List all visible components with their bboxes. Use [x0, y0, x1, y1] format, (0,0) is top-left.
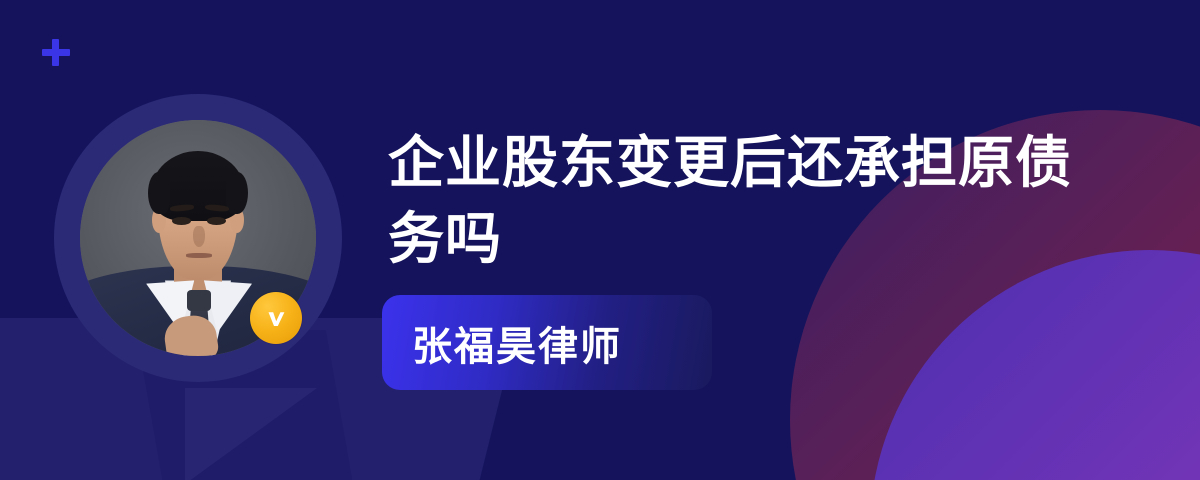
- plus-icon-vertical-bar: [52, 39, 59, 66]
- avatar[interactable]: [54, 94, 342, 382]
- plus-icon: [40, 36, 72, 68]
- verified-badge-icon: [250, 292, 302, 344]
- page-title: 企业股东变更后还承担原债务吗: [388, 125, 1088, 277]
- decorative-arc-purple: [870, 250, 1200, 480]
- portrait-mouth: [186, 253, 212, 257]
- lawyer-name-badge[interactable]: 张福昊律师: [382, 295, 712, 390]
- decorative-triangle: [185, 388, 317, 480]
- lawyer-article-banner: 企业股东变更后还承担原债务吗 张福昊律师: [0, 0, 1200, 480]
- portrait-tie-knot: [187, 290, 211, 311]
- portrait-eye-right: [207, 217, 226, 225]
- portrait-hair-side-left: [148, 172, 169, 214]
- portrait-eye-left: [172, 217, 191, 225]
- portrait-hair-side-right: [226, 172, 247, 214]
- lawyer-name-label: 张福昊律师: [382, 314, 622, 372]
